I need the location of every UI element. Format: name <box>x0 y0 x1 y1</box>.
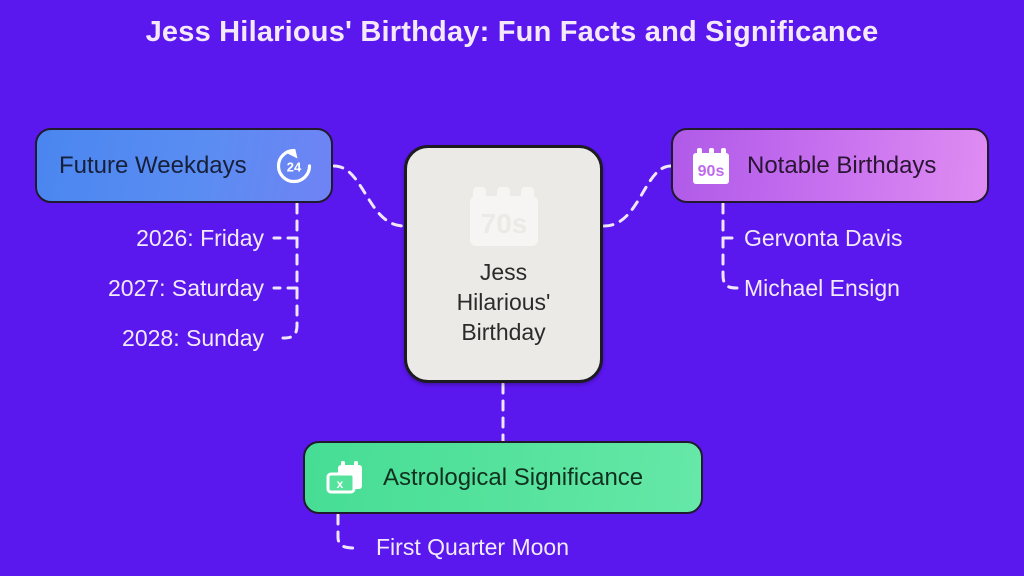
svg-text:24: 24 <box>287 159 302 174</box>
branch-label-astrological-significance: Astrological Significance <box>383 464 643 492</box>
calendar-90s-icon: 90s <box>689 144 733 188</box>
svg-text:x: x <box>337 477 344 491</box>
center-label-line-3: Birthday <box>457 317 551 347</box>
connector-center-to-notable <box>604 166 671 226</box>
leaf-item-weekdays-2028[interactable]: 2028: Sunday <box>0 325 264 352</box>
center-label-line-1: Jess <box>457 257 551 287</box>
leaf-item-gervonta-davis[interactable]: Gervonta Davis <box>744 225 903 252</box>
connector-astro-trunk <box>338 515 355 548</box>
leaf-item-weekdays-2026[interactable]: 2026: Friday <box>0 225 264 252</box>
connector-notable-trunk <box>723 204 737 288</box>
page-title: Jess Hilarious' Birthday: Fun Facts and … <box>0 16 1024 49</box>
branch-label-notable-birthdays: Notable Birthdays <box>747 152 936 180</box>
connector-weekdays-to-center <box>334 166 404 226</box>
center-node-label: Jess Hilarious' Birthday <box>457 257 551 347</box>
center-label-line-2: Hilarious' <box>457 287 551 317</box>
center-node[interactable]: 70s Jess Hilarious' Birthday <box>404 145 603 383</box>
svg-text:90s: 90s <box>698 163 725 180</box>
calendar-70s-icon: 70s <box>467 181 541 251</box>
connector-weekdays-trunk <box>283 204 297 338</box>
branch-node-astrological-significance[interactable]: x Astrological Significance <box>303 441 703 514</box>
mindmap-canvas: Jess Hilarious' Birthday: Fun Facts and … <box>0 0 1024 576</box>
branch-node-notable-birthdays[interactable]: 90s Notable Birthdays <box>671 128 989 203</box>
branch-node-future-weekdays[interactable]: Future Weekdays 24 <box>35 128 333 203</box>
svg-text:70s: 70s <box>480 208 527 239</box>
rotate-24-icon: 24 <box>273 145 315 187</box>
leaf-item-weekdays-2027[interactable]: 2027: Saturday <box>0 275 264 302</box>
branch-label-future-weekdays: Future Weekdays <box>59 152 247 180</box>
calendar-event-x-icon: x <box>323 456 369 500</box>
leaf-item-first-quarter-moon[interactable]: First Quarter Moon <box>376 534 569 561</box>
leaf-item-michael-ensign[interactable]: Michael Ensign <box>744 275 900 302</box>
